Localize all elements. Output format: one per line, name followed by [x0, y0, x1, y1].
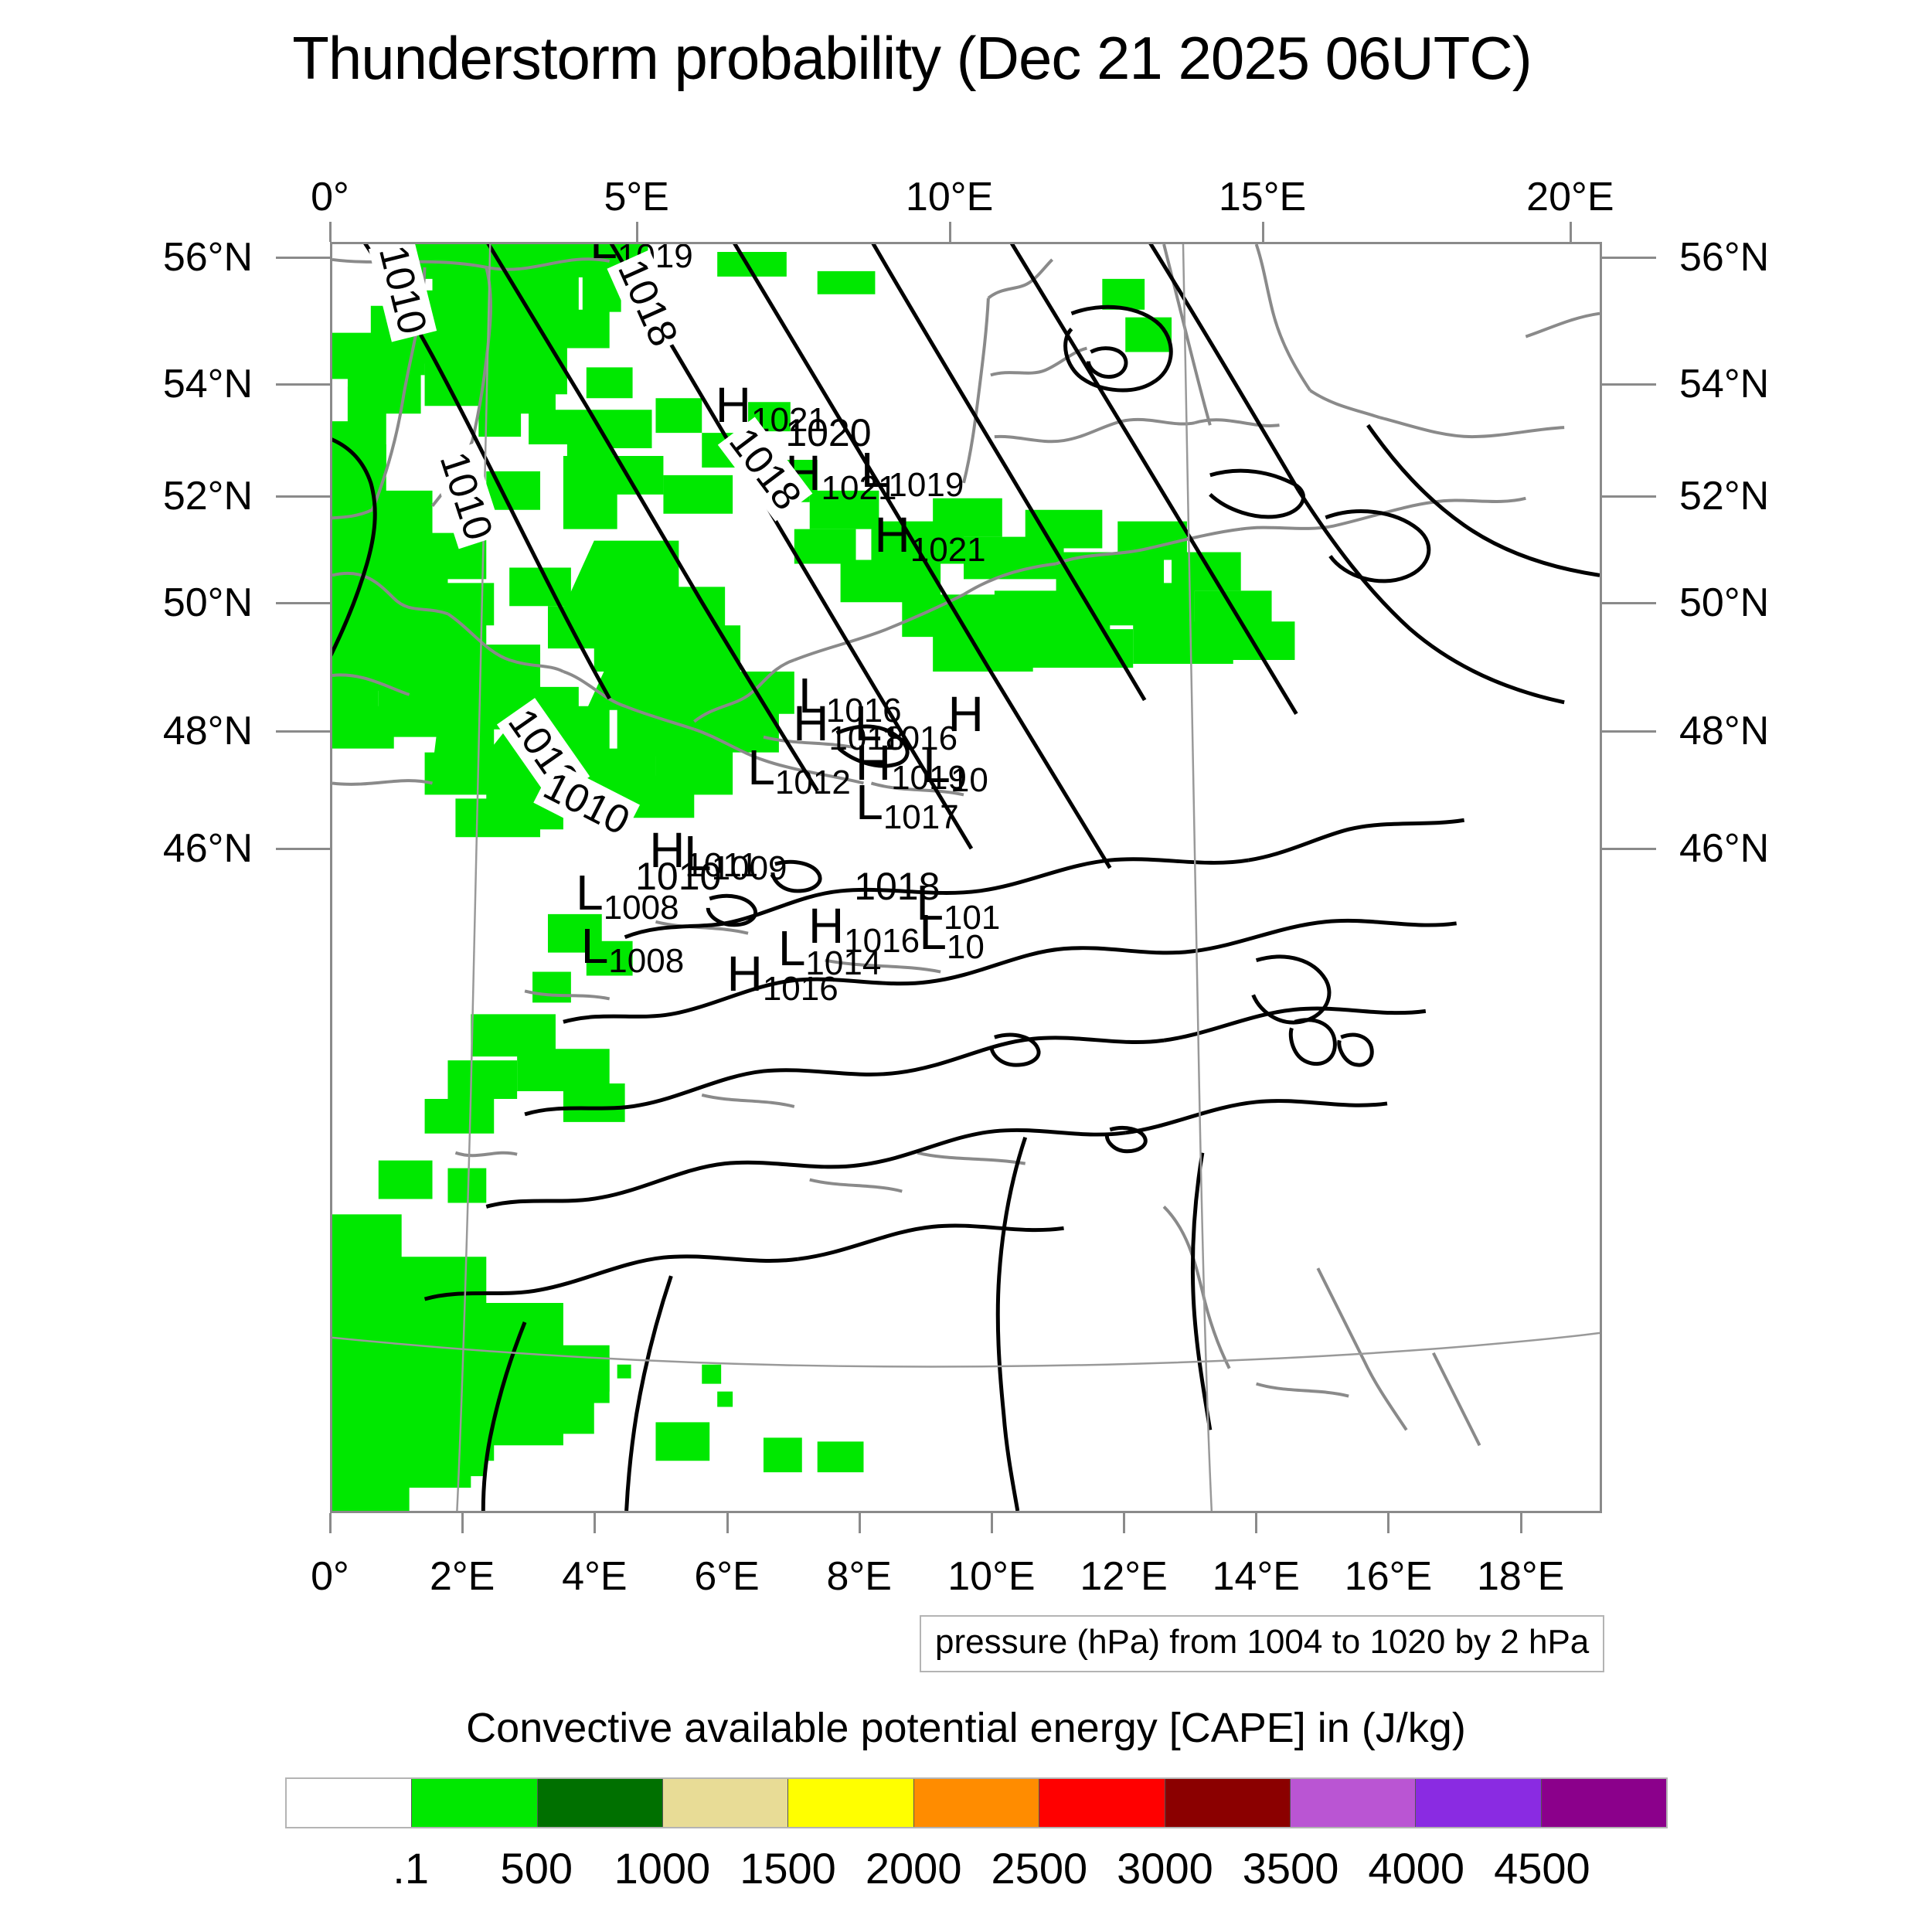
lat-tick-left-3: 50°N	[163, 580, 253, 626]
pressure-center-value: 1008	[608, 942, 684, 980]
lon-tickmark-bottom-8	[1387, 1513, 1389, 1533]
lat-tick-left-2: 52°N	[163, 473, 253, 519]
lat-tickmark-right-1	[1602, 383, 1656, 386]
pressure-center-type: L	[855, 774, 883, 830]
pressure-center-l-10: L1012	[747, 739, 850, 802]
lat-tickmark-right-3	[1602, 602, 1656, 604]
lat-tick-right-0: 56°N	[1679, 234, 1769, 281]
lon-tickmark-top-0	[329, 222, 332, 242]
lat-tickmark-left-5	[276, 848, 330, 850]
lon-tick-bottom-5: 10°E	[947, 1553, 1035, 1600]
colorbar-cell-9[interactable]	[1415, 1779, 1540, 1827]
colorbar-label-0: .1	[393, 1843, 429, 1893]
colorbar-cell-6[interactable]	[1039, 1779, 1164, 1827]
lat-tick-left-4: 48°N	[163, 708, 253, 754]
colorbar-cell-0[interactable]	[287, 1779, 411, 1827]
lon-tick-top-2: 10°E	[906, 174, 993, 220]
page-title: Thunderstorm probability (Dec 21 2025 06…	[0, 23, 1824, 94]
lon-tick-bottom-3: 6°E	[694, 1553, 759, 1600]
lat-tickmark-right-0	[1602, 257, 1656, 259]
lat-tick-right-3: 50°N	[1679, 580, 1769, 626]
lon-tick-bottom-2: 4°E	[562, 1553, 627, 1600]
isobar-label-1010-2: 1010	[429, 444, 502, 549]
colorbar-label-6: 3000	[1117, 1843, 1213, 1893]
colorbar-label-8: 4000	[1368, 1843, 1464, 1893]
weather-map-figure: Thunderstorm probability (Dec 21 2025 06…	[0, 0, 1932, 1932]
colorbar-label-4: 2000	[866, 1843, 962, 1893]
lon-tickmark-bottom-4	[859, 1513, 861, 1533]
lat-tickmark-left-2	[276, 495, 330, 498]
pressure-legend-text: pressure (hPa) from 1004 to 1020 by 2 hP…	[935, 1623, 1589, 1661]
pressure-center-value: 1021	[910, 531, 986, 569]
colorbar-labels: .150010001500200025003000350040004500	[285, 1843, 1668, 1897]
map-plot-area[interactable]: L1019H10211020H1021L1019H1021L1016H1018L…	[330, 242, 1602, 1513]
lon-tickmark-bottom-7	[1255, 1513, 1257, 1533]
pressure-center-value: 1019	[888, 466, 964, 504]
colorbar-cell-8[interactable]	[1290, 1779, 1415, 1827]
lat-tickmark-left-1	[276, 383, 330, 386]
pressure-center-l-4: L1019	[861, 441, 964, 505]
lat-tick-left-0: 56°N	[163, 234, 253, 281]
colorbar-cell-5[interactable]	[913, 1779, 1039, 1827]
colorbar-cell-10[interactable]	[1541, 1779, 1666, 1827]
pressure-marker-layer: L1019H10211020H1021L1019H1021L1016H1018L…	[332, 244, 1600, 1511]
lon-tick-bottom-8: 16°E	[1345, 1553, 1432, 1600]
lon-tickmark-top-3	[1262, 222, 1264, 242]
contour-label-1018-24: 1018	[854, 864, 940, 909]
pressure-legend-box: pressure (hPa) from 1004 to 1020 by 2 hP…	[920, 1615, 1604, 1672]
pressure-center-value: 1017	[883, 798, 959, 836]
lat-tick-right-2: 52°N	[1679, 473, 1769, 519]
lon-tickmark-top-1	[636, 222, 638, 242]
colorbar-cell-4[interactable]	[787, 1779, 913, 1827]
lon-tick-top-3: 15°E	[1219, 174, 1306, 220]
colorbar-cell-7[interactable]	[1165, 1779, 1290, 1827]
lat-tickmark-right-2	[1602, 495, 1656, 498]
lon-tick-top-0: 0°	[311, 174, 349, 220]
pressure-center-value: 1012	[775, 764, 851, 801]
lon-tick-top-4: 20°E	[1526, 174, 1614, 220]
lon-tickmark-bottom-1	[461, 1513, 464, 1533]
pressure-center-type: L	[861, 442, 889, 498]
pressure-center-value: 1014	[805, 944, 881, 982]
lon-tickmark-top-2	[949, 222, 951, 242]
lat-tick-right-1: 54°N	[1679, 361, 1769, 407]
lat-tickmark-left-3	[276, 602, 330, 604]
pressure-center-type: H	[948, 686, 984, 742]
pressure-center-type: H	[727, 946, 763, 1002]
pressure-center-type: H	[875, 507, 910, 563]
pressure-center-value: 10	[951, 761, 988, 799]
pressure-center-l-22: L1014	[778, 920, 881, 983]
pressure-center-h-5: H1021	[875, 506, 986, 570]
lon-tick-top-1: 5°E	[604, 174, 668, 220]
pressure-center-type: L	[576, 865, 604, 920]
lon-tick-bottom-1: 2°E	[430, 1553, 495, 1600]
colorbar-title: Convective available potential energy [C…	[0, 1704, 1932, 1752]
colorbar[interactable]	[285, 1777, 1668, 1828]
lon-tickmark-bottom-5	[991, 1513, 993, 1533]
colorbar-cell-3[interactable]	[662, 1779, 787, 1827]
lat-tickmark-right-5	[1602, 848, 1656, 850]
pressure-center-l-13: L10	[923, 736, 988, 800]
colorbar-label-1: 500	[501, 1843, 573, 1893]
lon-tick-bottom-6: 12°E	[1080, 1553, 1167, 1600]
colorbar-cell-2[interactable]	[537, 1779, 662, 1827]
pressure-center-l-18: L1008	[581, 917, 684, 981]
lat-tick-right-4: 48°N	[1679, 708, 1769, 754]
colorbar-label-9: 4500	[1494, 1843, 1590, 1893]
lon-tick-bottom-0: 0°	[311, 1553, 349, 1600]
lat-tick-right-5: 46°N	[1679, 825, 1769, 872]
lat-tickmark-left-4	[276, 730, 330, 733]
lat-tickmark-right-4	[1602, 730, 1656, 733]
lon-tick-bottom-7: 14°E	[1213, 1553, 1300, 1600]
lat-tick-left-1: 54°N	[163, 361, 253, 407]
pressure-center-type: L	[581, 918, 609, 974]
lon-tickmark-bottom-9	[1520, 1513, 1522, 1533]
colorbar-cell-1[interactable]	[411, 1779, 536, 1827]
pressure-center-value: 1009	[712, 849, 787, 887]
lon-tickmark-bottom-6	[1123, 1513, 1125, 1533]
lon-tickmark-bottom-3	[726, 1513, 729, 1533]
colorbar-label-5: 2500	[992, 1843, 1088, 1893]
colorbar-label-7: 3500	[1243, 1843, 1339, 1893]
lon-tick-bottom-9: 18°E	[1477, 1553, 1564, 1600]
pressure-center-type: L	[923, 737, 951, 793]
colorbar-label-3: 1500	[740, 1843, 836, 1893]
lon-tick-bottom-4: 8°E	[827, 1553, 892, 1600]
pressure-center-type: L	[747, 740, 775, 795]
lon-tickmark-bottom-2	[594, 1513, 596, 1533]
lat-tickmark-left-0	[276, 257, 330, 259]
pressure-center-value: 101	[944, 899, 1000, 937]
colorbar-label-2: 1000	[614, 1843, 711, 1893]
lon-tickmark-top-4	[1570, 222, 1572, 242]
lat-tick-left-5: 46°N	[163, 825, 253, 872]
pressure-center-type: L	[778, 920, 806, 976]
lon-tickmark-bottom-0	[329, 1513, 332, 1533]
isobar-label-1010-0: 1010	[368, 242, 436, 342]
